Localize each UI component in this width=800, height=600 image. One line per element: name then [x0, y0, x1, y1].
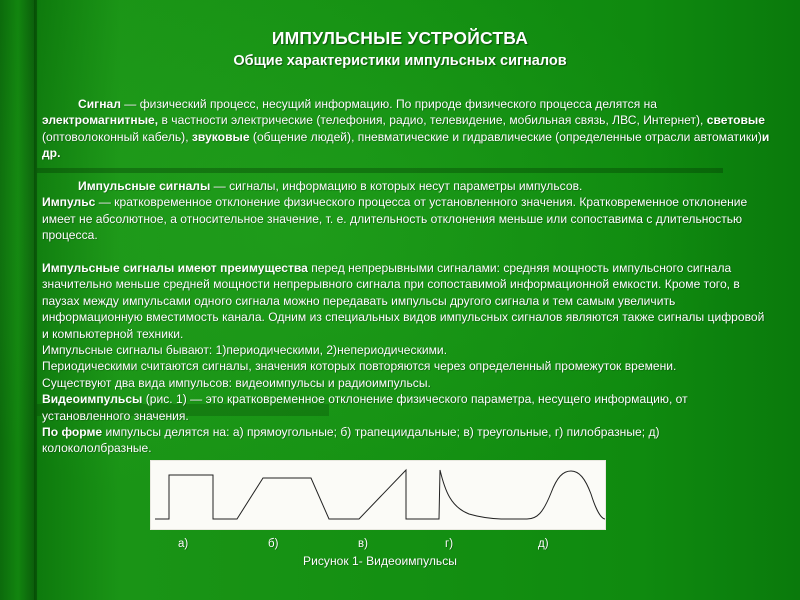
waveform-rectangular — [155, 475, 233, 519]
page-title: ИМПУЛЬСНЫЕ УСТРОЙСТВА — [0, 28, 800, 49]
figure-item-labels: а) б) в) г) д) — [150, 538, 610, 554]
term-sound: звуковые — [192, 130, 250, 144]
waveform-trapezoidal — [233, 478, 349, 519]
paragraph-pulse-signals: Импульсные сигналы — сигналы, информацию… — [42, 178, 770, 244]
figure-label-c: в) — [358, 538, 368, 550]
paragraph-classification: Импульсные сигналы бывают: 1)периодическ… — [42, 342, 770, 457]
term-pulse-signals: Импульсные сигналы — [78, 179, 210, 193]
p4-line-1: Импульсные сигналы бывают: 1)периодическ… — [42, 343, 447, 357]
p1-text-4: (общение людей), пневматические и гидрав… — [250, 130, 762, 144]
waveform-svg — [151, 461, 605, 529]
figure-plot-area — [150, 460, 606, 530]
figure-label-b: б) — [268, 538, 278, 550]
p2-text-2: — кратковременное отклонение физического… — [42, 195, 747, 242]
figure-label-d: г) — [445, 538, 453, 550]
p1-text-1: — физический процесс, несущий информацию… — [121, 97, 657, 111]
term-pulse: Импульс — [42, 195, 95, 209]
p1-text-2: в частности электрические (телефония, ра… — [158, 113, 707, 127]
p4-line-2: Периодическими считаются сигналы, значен… — [42, 359, 676, 373]
term-light: световые — [707, 113, 765, 127]
term-by-shape: По форме — [42, 425, 102, 439]
p4-line-5: импульсы делятся на: а) прямоугольные; б… — [42, 425, 660, 455]
term-electromagnetic: электромагнитные, — [42, 113, 158, 127]
slide-canvas: ИМПУЛЬСНЫЕ УСТРОЙСТВА Общие характеристи… — [0, 0, 800, 600]
paragraph-signal: Сигнал — физический процесс, несущий инф… — [42, 96, 770, 162]
page-subtitle: Общие характеристики импульсных сигналов — [0, 53, 800, 69]
figure-label-e: д) — [538, 538, 549, 550]
figure-label-a: а) — [178, 538, 188, 550]
figure-videoimpulses — [150, 460, 608, 532]
waveform-triangular — [349, 470, 423, 519]
background-shade-upper — [37, 168, 723, 173]
p1-text-3: (оптоволоконный кабель), — [42, 130, 192, 144]
p4-line-3: Существуют два вида импульсов: видеоимпу… — [42, 376, 431, 390]
p2-text-1: — сигналы, информацию в которых несут па… — [210, 179, 582, 193]
term-video-pulses: Видеоимпульсы — [42, 392, 142, 406]
left-accent-rule — [34, 0, 37, 600]
title-block: ИМПУЛЬСНЫЕ УСТРОЙСТВА Общие характеристи… — [0, 28, 800, 69]
figure-caption: Рисунок 1- Видеоимпульсы — [150, 554, 610, 568]
waveform-bell — [507, 471, 605, 519]
term-signal: Сигнал — [78, 97, 121, 111]
term-advantages: Импульсные сигналы имеют преимущества — [42, 261, 308, 275]
paragraph-advantages: Импульсные сигналы имеют преимущества пе… — [42, 260, 770, 342]
waveform-sawtooth-decay — [423, 470, 507, 519]
